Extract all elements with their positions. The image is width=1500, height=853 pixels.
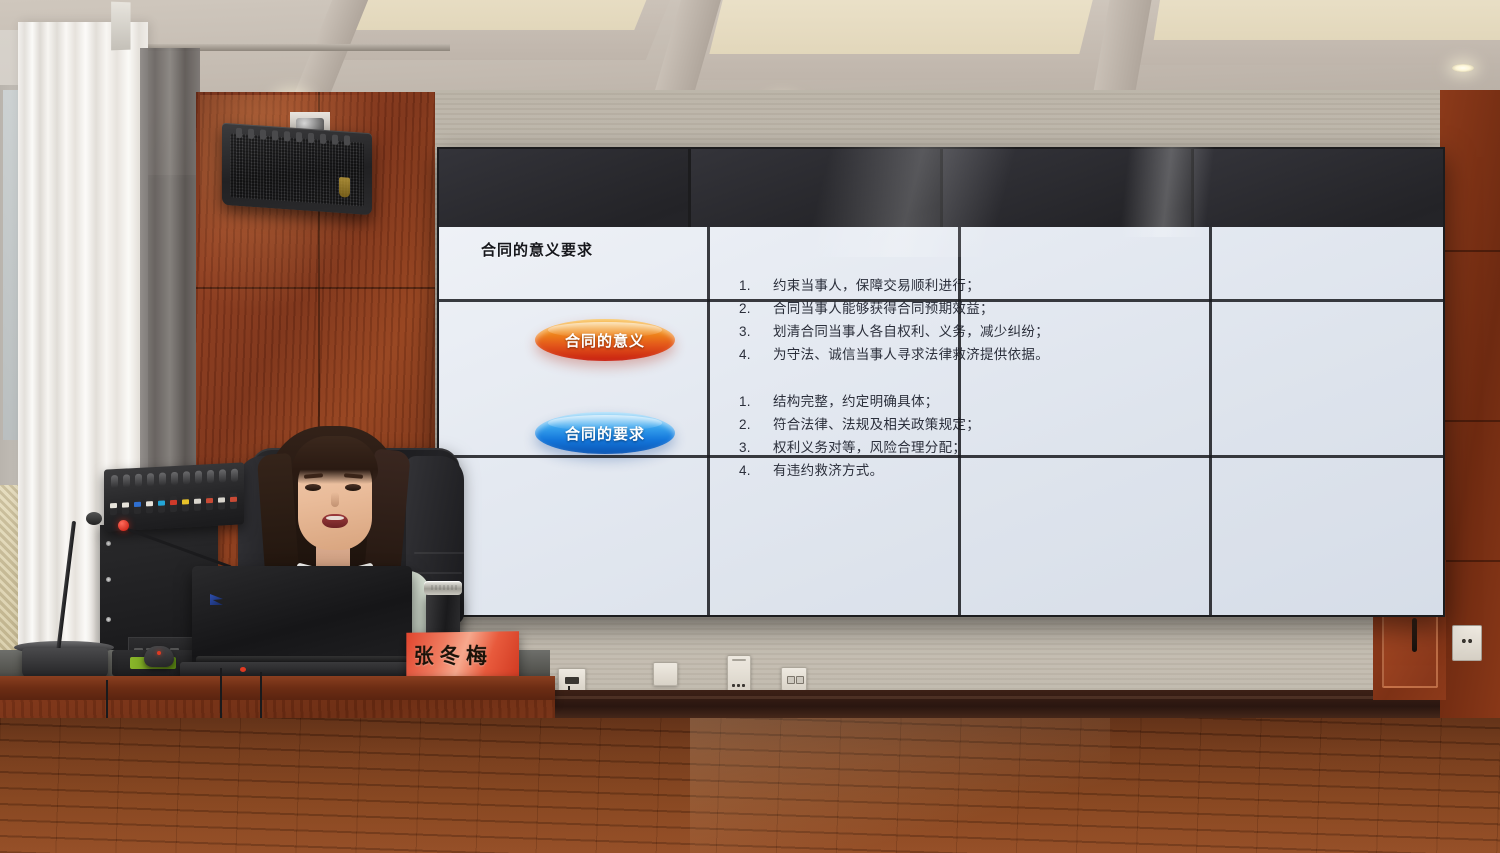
wall-control-panel xyxy=(727,655,751,693)
panel-bezel-horizontal xyxy=(439,299,1443,302)
list-item: 4. 为守法、诚信当事人寻求法律救济提供依据。 xyxy=(739,344,1209,365)
list-number: 4. xyxy=(739,460,773,481)
eye-left xyxy=(305,484,321,491)
presentation-slide: 合同的意义要求 合同的意义 合同的要求 1. 约束当事人，保障交易顺利进行； 2… xyxy=(439,227,1443,615)
list-text: 约束当事人，保障交易顺利进行； xyxy=(773,275,980,296)
list-item: 2. 符合法律、法规及相关政策规定； xyxy=(739,414,1209,435)
list-item: 1. 结构完整，约定明确具体； xyxy=(739,391,1209,412)
list-item: 4. 有违约救济方式。 xyxy=(739,460,1209,481)
name-placard-text: 张冬梅 xyxy=(414,640,513,671)
badge-contract-requirements: 合同的要求 xyxy=(535,412,675,454)
panel-bezel-vertical xyxy=(958,227,961,615)
list-text: 为守法、诚信当事人寻求法律救济提供依据。 xyxy=(773,344,1049,365)
list-group-requirements: 1. 结构完整，约定明确具体； 2. 符合法律、法规及相关政策规定； 3. 权利… xyxy=(739,391,1209,481)
computer-mouse[interactable] xyxy=(144,646,174,667)
list-number: 4. xyxy=(739,344,773,365)
right-wall-outlet xyxy=(1452,625,1482,661)
eye-right xyxy=(345,484,361,491)
wall-speaker xyxy=(222,123,372,215)
nose xyxy=(331,492,339,507)
slide-lists: 1. 约束当事人，保障交易顺利进行； 2. 合同当事人能够获得合同预期效益； 3… xyxy=(739,275,1209,507)
list-number: 1. xyxy=(739,391,773,412)
blank-wall-plate xyxy=(653,662,678,686)
badge-contract-meaning: 合同的意义 xyxy=(535,319,675,361)
list-item: 3. 划清合同当事人各自权利、义务，减少纠纷； xyxy=(739,321,1209,342)
cabinet-handle-icon[interactable] xyxy=(1412,618,1417,652)
list-text: 有违约救济方式。 xyxy=(773,460,883,481)
microphone-capsule xyxy=(86,512,102,525)
panel-bezel-vertical xyxy=(707,227,710,615)
screenshot-root: 合同的意义要求 合同的意义 合同的要求 1. 约束当事人，保障交易顺利进行； 2… xyxy=(0,0,1500,853)
list-group-meaning: 1. 约束当事人，保障交易顺利进行； 2. 合同当事人能够获得合同预期效益； 3… xyxy=(739,275,1209,365)
mouth xyxy=(322,514,348,528)
slide-title: 合同的意义要求 xyxy=(481,239,593,260)
conference-microphone-base[interactable] xyxy=(22,648,108,678)
name-placard-side xyxy=(111,2,130,51)
laptop-logo-icon xyxy=(210,594,223,605)
mixer-fader-row[interactable] xyxy=(110,493,237,516)
list-number: 2. xyxy=(739,414,773,435)
thermos-cap[interactable] xyxy=(424,581,462,595)
panel-bezel-horizontal xyxy=(439,455,1443,458)
list-text: 划清合同当事人各自权利、义务，减少纠纷； xyxy=(773,321,1049,342)
list-item: 1. 约束当事人，保障交易顺利进行； xyxy=(739,275,1209,296)
video-wall[interactable]: 合同的意义要求 合同的意义 合同的要求 1. 约束当事人，保障交易顺利进行； 2… xyxy=(437,147,1445,617)
list-text: 结构完整，约定明确具体； xyxy=(773,391,939,412)
list-number: 1. xyxy=(739,275,773,296)
list-number: 3. xyxy=(739,321,773,342)
speaker-logo xyxy=(339,177,350,198)
power-outlet-plate xyxy=(558,668,586,692)
panel-bezel-vertical xyxy=(1209,227,1212,615)
ceiling-downlight xyxy=(1452,64,1474,72)
wood-floor xyxy=(0,718,1500,853)
mixer-knob-row[interactable] xyxy=(111,469,238,489)
baseboard xyxy=(435,690,1445,720)
laptop-screen-lid[interactable] xyxy=(192,566,412,670)
list-text: 符合法律、法规及相关政策规定； xyxy=(773,414,980,435)
data-jack-plate xyxy=(781,667,807,691)
